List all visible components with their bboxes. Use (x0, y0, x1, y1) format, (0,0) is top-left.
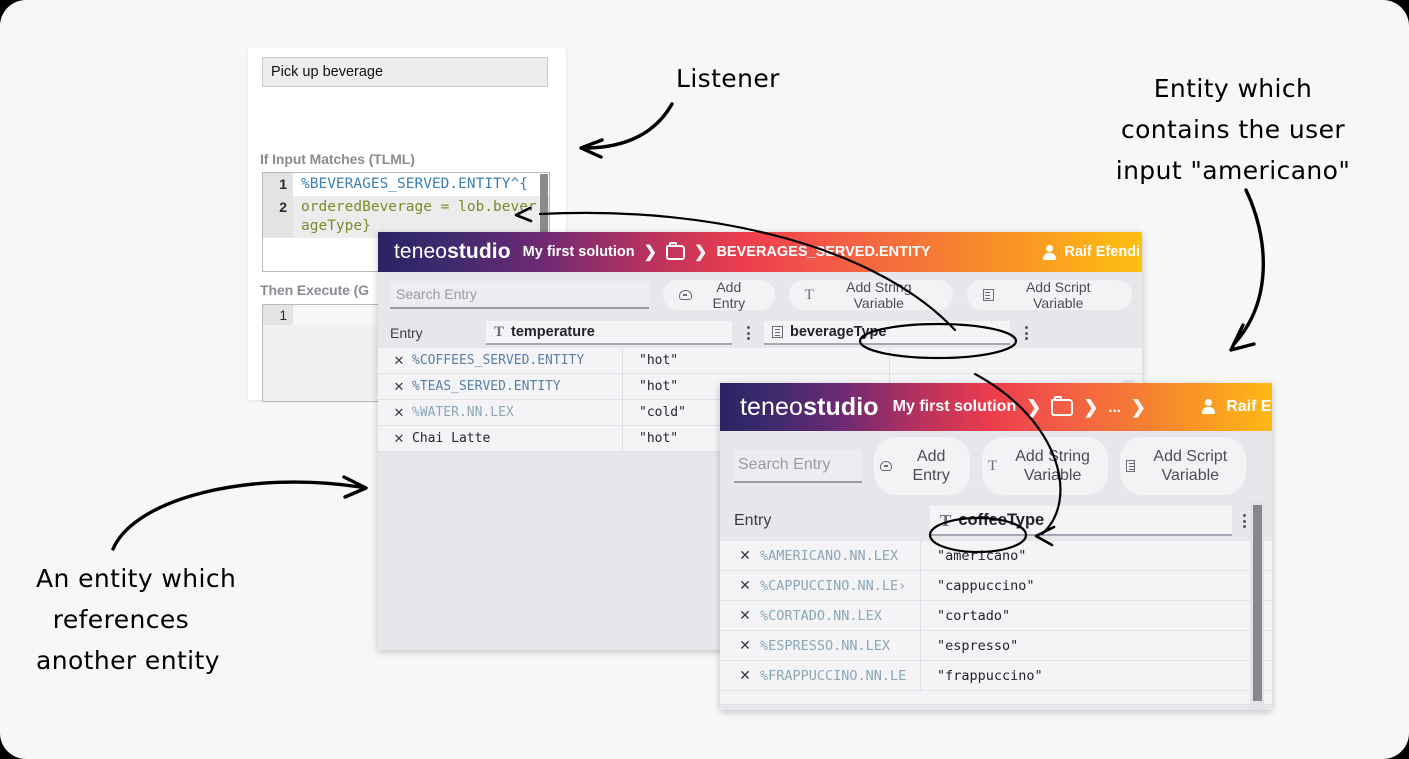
flow-title-input[interactable]: Pick up beverage (262, 57, 548, 87)
chevron-right-icon: ❯ (1083, 397, 1098, 418)
exec-line-number: 1 (263, 305, 293, 325)
string-variable-icon: T (940, 512, 951, 529)
search-input[interactable]: Search Entry (734, 450, 862, 483)
screenshot-canvas: Pick up beverage If Input Matches (TLML)… (0, 0, 1409, 759)
delete-row-icon[interactable]: ✕ (730, 607, 760, 624)
add-entry-label: Add Entry (898, 447, 964, 485)
delete-row-icon[interactable]: ✕ (730, 667, 760, 684)
column-menu-button[interactable] (746, 324, 750, 343)
column-header-coffeeType[interactable]: T coffeeType (930, 506, 1232, 536)
table-column-header: Entry T coffeeType (720, 501, 1272, 541)
delete-row-icon[interactable]: ✕ (730, 577, 760, 594)
delete-row-icon[interactable]: ✕ (386, 379, 412, 395)
breadcrumb-solution[interactable]: My first solution (523, 244, 635, 260)
annotation-listener: Listener (676, 58, 780, 99)
then-execute-label: Then Execute (G (260, 282, 369, 298)
user-name[interactable]: Raif Efer (1226, 398, 1272, 416)
folder-icon[interactable] (1051, 399, 1073, 416)
code-line-number: 1 (263, 173, 293, 196)
table-row[interactable]: ✕ %ESPRESSO.NN.LEX "espresso" (720, 631, 1272, 661)
window-header-bar: teneostudio My first solution ❯ ❯ ... ❯ … (720, 383, 1272, 431)
teneo-studio-logo[interactable]: teneostudio (740, 393, 879, 422)
string-variable-icon: T (494, 325, 504, 340)
table-row[interactable]: ✕ %CORTADO.NN.LEX "cortado" (720, 601, 1272, 631)
add-entry-button[interactable]: Add Entry (874, 437, 970, 495)
code-token-entity: %BEVERAGES_SERVED.ENTITY^{ (301, 176, 528, 192)
script-variable-icon (772, 326, 783, 338)
search-input[interactable]: Search Entry (390, 281, 649, 309)
table-column-header: Entry T temperature beverageType (378, 318, 1142, 348)
table-row[interactable]: ✕ %AMERICANO.NN.LEX "americano" (720, 541, 1272, 571)
teneo-studio-window-coffees: teneostudio My first solution ❯ ❯ ... ❯ … (720, 383, 1272, 710)
code-line-number: 2 (263, 196, 293, 238)
breadcrumb-solution[interactable]: My first solution (893, 398, 1017, 416)
entity-toolbar: Search Entry Add Entry T Add String Vari… (720, 431, 1272, 501)
add-entry-button[interactable]: Add Entry (663, 280, 774, 310)
entity-toolbar: Search Entry Add Entry T Add String Vari… (378, 272, 1142, 318)
add-string-variable-icon: T (805, 288, 814, 303)
annotation-entity-references: An entity which references another entit… (36, 558, 236, 681)
user-avatar-icon (1043, 245, 1056, 259)
delete-row-icon[interactable]: ✕ (386, 353, 412, 369)
add-script-variable-icon (983, 289, 994, 301)
chevron-right-icon: ❯ (1026, 397, 1041, 418)
annotation-entity-user-input: Entity which contains the user input "am… (1068, 68, 1398, 191)
column-menu-button[interactable] (1242, 512, 1246, 531)
breadcrumb-entity[interactable]: BEVERAGES_SERVED.ENTITY (716, 244, 930, 260)
add-string-variable-label: Add String Variable (1003, 447, 1102, 485)
add-entry-icon (679, 290, 692, 300)
delete-row-icon[interactable]: ✕ (386, 431, 412, 447)
add-script-variable-icon (1126, 460, 1135, 472)
add-string-variable-button[interactable]: T Add String Variable (789, 280, 953, 310)
add-string-variable-label: Add String Variable (821, 279, 937, 311)
folder-icon[interactable] (666, 245, 685, 260)
if-input-matches-label: If Input Matches (TLML) (260, 151, 415, 167)
column-header-beverageType[interactable]: beverageType (764, 321, 1010, 345)
delete-row-icon[interactable]: ✕ (730, 637, 760, 654)
column-header-entry: Entry (390, 325, 486, 341)
add-string-variable-icon: T (988, 459, 997, 474)
code-line: 1 %BEVERAGES_SERVED.ENTITY^{ (263, 173, 549, 196)
user-name[interactable]: Raif Efendi (1064, 244, 1140, 260)
add-entry-icon (880, 461, 892, 471)
table-row[interactable]: ✕ %CAPPUCCINO.NN.LE› "cappuccino" (720, 571, 1272, 601)
window-b-scrollbar-thumb[interactable] (1253, 505, 1262, 701)
code-token-variable: orderedBeverage = lob.beverageType} (301, 199, 537, 234)
add-script-variable-label: Add Script Variable (1141, 447, 1240, 485)
add-script-variable-button[interactable]: Add Script Variable (1120, 437, 1246, 495)
teneo-studio-logo[interactable]: teneostudio (394, 240, 511, 264)
table-row[interactable] (720, 691, 1272, 705)
entity-table-body: ✕ %AMERICANO.NN.LEX "americano" ✕ %CAPPU… (720, 541, 1272, 705)
chevron-right-icon: ❯ (644, 242, 657, 262)
chevron-right-icon: ❯ (1131, 397, 1146, 418)
chevron-right-icon: ❯ (694, 242, 707, 262)
table-row[interactable]: ✕ %FRAPPUCCINO.NN.LE "frappuccino" (720, 661, 1272, 691)
add-script-variable-button[interactable]: Add Script Variable (967, 280, 1132, 310)
delete-row-icon[interactable]: ✕ (730, 547, 760, 564)
table-row[interactable]: ✕ %COFFEES_SERVED.ENTITY "hot" (378, 348, 1142, 374)
column-menu-button[interactable] (1024, 324, 1028, 343)
user-avatar-icon (1202, 399, 1217, 415)
breadcrumb-ellipsis[interactable]: ... (1108, 399, 1121, 416)
add-entry-label: Add Entry (699, 279, 759, 311)
column-header-temperature[interactable]: T temperature (486, 321, 732, 345)
window-header-bar: teneostudio My first solution ❯ ❯ BEVERA… (378, 232, 1142, 272)
add-string-variable-button[interactable]: T Add String Variable (982, 437, 1108, 495)
add-script-variable-label: Add Script Variable (1001, 279, 1116, 311)
delete-row-icon[interactable]: ✕ (386, 405, 412, 421)
column-header-entry: Entry (734, 512, 930, 530)
